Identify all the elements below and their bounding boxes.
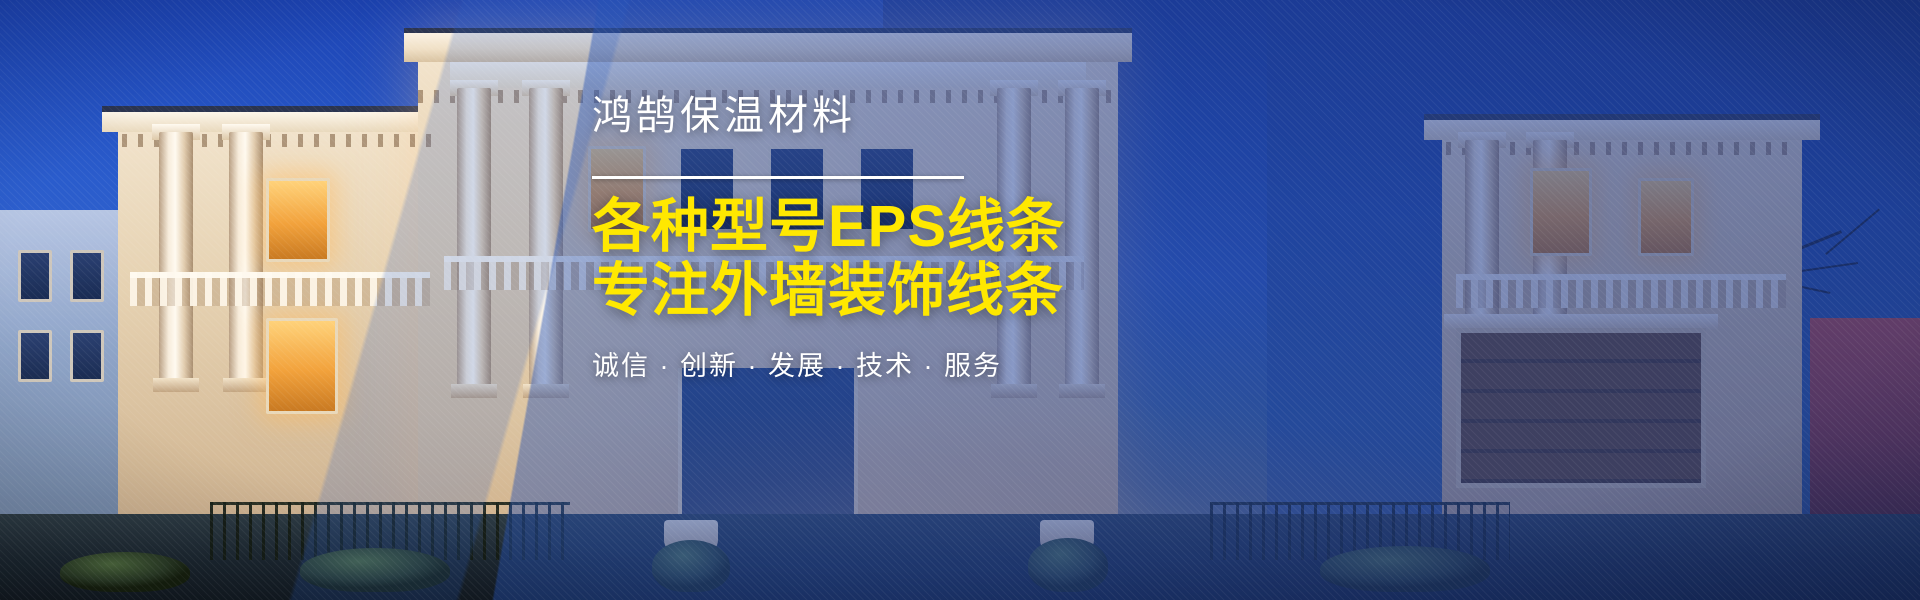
garage-door bbox=[1456, 328, 1706, 488]
shrub bbox=[652, 540, 730, 592]
headline-line-1: 各种型号EPS线条 bbox=[592, 195, 1352, 259]
column bbox=[529, 88, 563, 388]
shrub bbox=[60, 552, 190, 592]
hero-banner: 鸿鹄保温材料 各种型号EPS线条 专注外墙装饰线条 诚信 · 创新 · 发展 ·… bbox=[0, 0, 1920, 600]
window bbox=[266, 178, 330, 262]
window bbox=[1638, 178, 1694, 256]
balustrade bbox=[130, 272, 430, 306]
shrub bbox=[300, 548, 450, 592]
tagline: 诚信 · 创新 · 发展 · 技术 · 服务 bbox=[592, 353, 1352, 380]
window bbox=[1530, 168, 1592, 256]
shrub bbox=[1320, 546, 1490, 592]
balustrade bbox=[1456, 274, 1786, 308]
headline-line-2: 专注外墙装饰线条 bbox=[592, 259, 1352, 323]
banner-copy: 鸿鹄保温材料 各种型号EPS线条 专注外墙装饰线条 诚信 · 创新 · 发展 ·… bbox=[592, 96, 1352, 380]
window bbox=[266, 318, 338, 414]
red-container bbox=[1810, 318, 1920, 514]
brand-name: 鸿鹄保温材料 bbox=[592, 96, 1352, 136]
centre-cornice bbox=[404, 28, 1132, 62]
column bbox=[457, 88, 491, 388]
column bbox=[229, 132, 263, 382]
divider-line bbox=[592, 176, 964, 179]
column bbox=[159, 132, 193, 382]
shrub bbox=[1028, 538, 1108, 592]
